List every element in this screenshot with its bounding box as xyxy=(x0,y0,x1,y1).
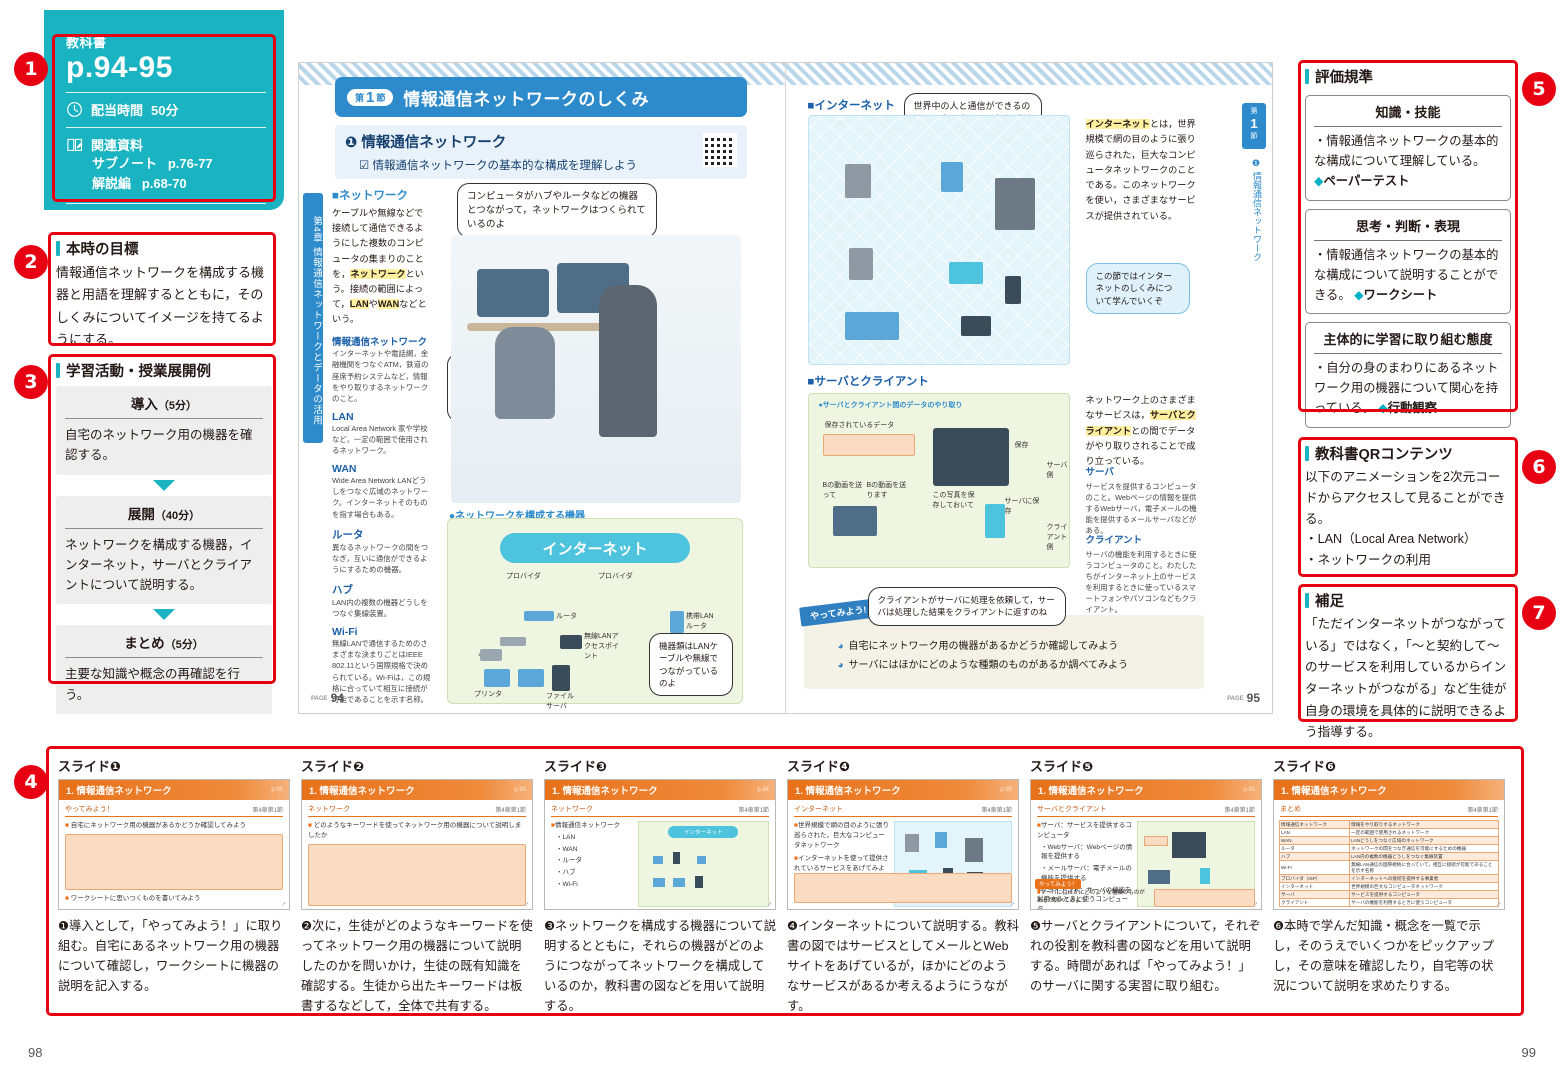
textbook-page-left: 第4章 情報通信ネットワークとデータの活用 第1節 情報通信ネットワークのしくみ… xyxy=(299,63,786,713)
slide-thumbnail-2[interactable]: 1. 情報通信ネットワークp.95 ネットワーク第4章第1節 ■ どのようなキー… xyxy=(301,779,533,910)
flow-arrow-down-icon-2 xyxy=(153,609,175,620)
slide-corner-mark-5: ↗ xyxy=(1253,901,1258,908)
criteria-card-thinking: 思考・判断・表現 ・情報通信ネットワークの基本的な構成について説明することができ… xyxy=(1305,209,1511,315)
criteria-tag-thinking: ◆ワークシート xyxy=(1354,288,1437,302)
network-lead-text: ケーブルや無線などで接続して通信できるようにした複数のコンピュータの集まりのこと… xyxy=(332,206,432,327)
internet-definition-text: インターネットとは，世界規模で網の目のように張り巡らされた，巨大なコンピュータネ… xyxy=(1086,117,1198,224)
related-materials-row: 関連資料 xyxy=(66,135,266,154)
textbook-pages: p.94-95 xyxy=(66,52,266,84)
slide-title-bar-5: 1. 情報通信ネットワークp.95 xyxy=(1031,780,1261,800)
slide-bullet-5-1: ■サーバ：サービスを提供するコンピュータ xyxy=(1037,821,1133,841)
slide-thumbnail-6[interactable]: 1. 情報通信ネットワーク まとめ第4章第1節 情報通信ネットワーク情報をやり取… xyxy=(1273,779,1505,910)
callout-badge-7: 7 xyxy=(1522,596,1556,630)
slide-caption-2: ❷次に，生徒がどのようなキーワードを使ってネットワーク用の機器について説明したの… xyxy=(301,917,533,1017)
slide-bullet-1-1: ■ 自宅にネットワーク用の機器があるかどうか確認してみよう xyxy=(65,821,283,831)
material-commentary: 解説編 p.68-70 xyxy=(92,174,266,194)
criteria-card-attitude: 主体的に学習に取り組む態度 ・自分の身のまわりにあるネットワーク用の機器について… xyxy=(1305,322,1511,428)
server-label-client-side: クライアント側 xyxy=(1047,522,1069,552)
summary-table: 情報通信ネットワーク情報をやり取りするネットワーク LAN一定の範囲で使用される… xyxy=(1279,820,1499,907)
slide-column-4: スライド❹ 1. 情報通信ネットワークp.95 インターネット第4章第1節 ■世… xyxy=(787,756,1019,1006)
table-row: プロバイダ（ISP）インターネットへの接続を提供する事業者 xyxy=(1280,875,1499,883)
slide-bullet-5-2: ・Webサーバ：Webページの情報を提供する xyxy=(1037,843,1133,863)
slide-bullet-2-1: ■ どのようなキーワードを使ってネットワーク用の機器について説明しましたか xyxy=(308,821,526,841)
term-lan: LAN Local Area Network 家や学校など，一定の範囲で使用され… xyxy=(332,411,432,456)
terms-column: ■ネットワーク ケーブルや無線などで接続して通信できるようにした複数のコンピュー… xyxy=(332,187,432,713)
topic-title: ❶ 情報通信ネットワーク xyxy=(345,131,737,152)
slide-corner-mark-4: ↗ xyxy=(1010,901,1015,908)
isp-node-2 xyxy=(941,162,963,192)
datacenter-node xyxy=(995,178,1035,230)
client-phone xyxy=(985,504,1005,538)
callout-badge-3: 3 xyxy=(14,365,48,399)
diamond-icon-2: ◆ xyxy=(1354,288,1363,302)
server-client-diagram: ●サーバとクライアント間のデータのやり取り 保存されているデータ Bの動画を送っ… xyxy=(808,393,1070,568)
net-label-printer: プリンタ xyxy=(474,689,502,699)
lesson-goal-text: 情報通信ネットワークを構成する機器と用語を理解するとともに，そのしくみについてイ… xyxy=(56,262,272,351)
callout-badge-2: 2 xyxy=(14,245,48,279)
internet-section-head: ■インターネット xyxy=(808,97,895,113)
table-row: WANLANどうしをつなぐ広域のネットワーク xyxy=(1280,837,1499,845)
bullet-dot-icon-3: ■ xyxy=(308,822,312,829)
file-server-device xyxy=(552,665,570,691)
term-johotsushin: 情報通信ネットワーク インターネットや電話網，金融機関をつなぐATM，鉄道の座席… xyxy=(332,334,432,404)
net-label-provider-1: プロバイダ xyxy=(506,571,541,581)
pc-node xyxy=(961,316,991,336)
material-subnote-name: サブノート xyxy=(92,156,157,171)
allotted-time-value: 50分 xyxy=(151,100,178,119)
term-wifi: Wi-Fi 無線LANで通信するためのさまざまな決まりごとはIEEE 802.1… xyxy=(332,626,432,705)
plan-step-summary: まとめ（5分） 主要な知識や概念の再確認を行う。 xyxy=(56,625,272,714)
monitor-left xyxy=(477,269,549,317)
term-server: サーバ サービスを提供するコンピュータのこと。Webページの情報を提供するWeb… xyxy=(1086,465,1198,536)
wifi-ap-device xyxy=(560,635,582,649)
term-client: クライアント サーバの機能を利用するときに使うコンピュータのこと。わたしたちがイ… xyxy=(1086,533,1198,615)
qr-code-icon[interactable] xyxy=(703,133,737,167)
term-hub: ハブ LAN内の複数の機器どうしをつなぐ集線装置。 xyxy=(332,582,432,619)
term-router: ルータ 異なるネットワークの間をつなぎ，互いに通信ができるようにするための機器。 xyxy=(332,527,432,575)
web-server-node xyxy=(949,262,983,284)
material-commentary-pages: p.68-70 xyxy=(142,176,187,191)
slide-corner-mark-2: ↗ xyxy=(524,901,529,908)
slide-column-3: スライド❸ 1. 情報通信ネットワークp.94 ネットワーク第4章第1節 ■情報… xyxy=(544,756,776,1006)
slide-label-2: スライド❷ xyxy=(301,756,533,775)
speech-bubble-devices: 機器類はLANケーブルや無線でつながっているのよ xyxy=(649,633,733,696)
plan-step-summary-title: まとめ（5分） xyxy=(65,632,263,658)
section-side-tab: 第1節 xyxy=(1242,103,1266,149)
slide-subtitle-5: サーバとクライアント第4章第1節 xyxy=(1037,804,1255,817)
slide-subtitle-1: やってみよう！第4章第1節 xyxy=(65,804,283,817)
slide-label-3: スライド❸ xyxy=(544,756,776,775)
slide-title-bar-6: 1. 情報通信ネットワーク xyxy=(1274,780,1504,800)
slide-corner-mark-6: ↗ xyxy=(1496,901,1501,908)
server-label-save-photo: この写真を保存しておいて xyxy=(933,490,981,510)
smartphone-node xyxy=(1005,276,1021,304)
net-label-file-server: ファイルサーバ xyxy=(546,691,578,711)
slide-thumbnail-1[interactable]: 1. 情報通信ネットワークp.95 やってみよう！第4章第1節 ■ 自宅にネット… xyxy=(58,779,290,910)
material-commentary-name: 解説編 xyxy=(92,176,131,191)
criteria-card-knowledge-title: 知識・技能 xyxy=(1314,102,1502,127)
table-row: Wi-Fi無線LAN通信の国際規格に合っていて，相互に接続が可能であることを示す… xyxy=(1280,861,1499,875)
pc-2 xyxy=(518,669,544,687)
table-row: 情報通信ネットワーク情報をやり取りするネットワーク xyxy=(1280,821,1499,829)
plan-step-develop-body: ネットワークを構成する機器，インターネット，サーバとクライアントについて説明する… xyxy=(65,529,263,596)
slide-bullet-3-6: ・Wi-Fi xyxy=(551,880,634,890)
slide-title-bar-2: 1. 情報通信ネットワークp.95 xyxy=(302,780,532,800)
table-row: LAN一定の範囲で使用されるネットワーク xyxy=(1280,829,1499,837)
pc-1 xyxy=(484,669,510,687)
lesson-goal-section: 本時の目標 情報通信ネットワークを構成する機器と用語を理解するとともに，そのしく… xyxy=(56,238,272,351)
server-label-stored-data: 保存されているデータ xyxy=(825,420,895,430)
slide-corner-mark-1: ↗ xyxy=(281,901,286,908)
slide-subtitle-2: ネットワーク第4章第1節 xyxy=(308,804,526,817)
bullet-dot-icon: ■ xyxy=(65,822,69,829)
slide-column-2: スライド❷ 1. 情報通信ネットワークp.95 ネットワーク第4章第1節 ■ ど… xyxy=(301,756,533,1006)
router-device xyxy=(524,611,554,621)
slide-column-5: スライド❺ 1. 情報通信ネットワークp.95 サーバとクライアント第4章第1節… xyxy=(1030,756,1262,1006)
plan-step-intro: 導入（5分） 自宅のネットワーク用の機器を確認する。 xyxy=(56,386,272,475)
bullet-icon-2: ◕ xyxy=(838,660,844,671)
try-it-box: やってみよう! ◕自宅にネットワーク用の機器があるかどうか確認してみよう ◕サー… xyxy=(804,615,1204,689)
slide-bullet-3-2: ・LAN xyxy=(551,833,634,843)
callout-badge-6: 6 xyxy=(1522,450,1556,484)
slide-title-bar-3: 1. 情報通信ネットワークp.94 xyxy=(545,780,775,800)
clock-icon xyxy=(66,101,83,118)
student-figure xyxy=(495,327,555,419)
slide-caption-5: ❺サーバとクライアントについて，それぞれの役割を教科書の図などを用いて説明する。… xyxy=(1030,917,1262,997)
server-diagram-title: ●サーバとクライアント間のデータのやり取り xyxy=(819,400,963,410)
callout-badge-4: 4 xyxy=(14,765,48,799)
allotted-time-label: 配当時間 xyxy=(91,100,143,119)
slide-thumbnail-5[interactable]: 1. 情報通信ネットワークp.95 サーバとクライアント第4章第1節 ■サーバ：… xyxy=(1030,779,1262,910)
teacher-figure xyxy=(599,285,657,437)
net-label-wifi-ap: 無線LANアクセスポイント xyxy=(584,631,624,661)
slide-title-bar-4: 1. 情報通信ネットワークp.95 xyxy=(788,780,1018,800)
lesson-plan-section: 学習活動・授業展開例 導入（5分） 自宅のネットワーク用の機器を確認する。 展開… xyxy=(56,360,272,714)
slide-label-5: スライド❺ xyxy=(1030,756,1262,775)
qr-contents-body: 以下のアニメーションを2次元コードからアクセスして見ることができる。 xyxy=(1305,467,1511,529)
slide-subtitle-6: まとめ第4章第1節 xyxy=(1280,804,1498,817)
slide-bullet-3-1: ■情報通信ネットワーク xyxy=(551,821,634,831)
slide-body-3: ■情報通信ネットワーク ・LAN ・WAN ・ルータ ・ハブ ・Wi-Fi イン… xyxy=(545,817,775,910)
slide-body-1: ■ 自宅にネットワーク用の機器があるかどうか確認してみよう ■ ワークシートに思… xyxy=(59,817,289,910)
slide-answer-area-4 xyxy=(794,873,1012,903)
speech-bubble-note: この節ではインターネットのしくみについて学んでいくぞ xyxy=(1086,263,1190,314)
server-label-send-b: Bの動画を送って xyxy=(823,480,863,500)
bullet-dot-icon-2: ■ xyxy=(65,895,69,902)
internet-diagram xyxy=(808,115,1070,365)
slide-3-internet-label: インターネット xyxy=(668,826,738,838)
flow-arrow-down-icon xyxy=(153,480,175,491)
term-wan: WAN Wide Area Network LANどうしをつなぐ広域のネットワー… xyxy=(332,463,432,519)
slides-panel: スライド❶ 1. 情報通信ネットワークp.95 やってみよう！第4章第1節 ■ … xyxy=(46,746,1524,1016)
slide-thumbnail-3[interactable]: 1. 情報通信ネットワークp.94 ネットワーク第4章第1節 ■情報通信ネットワ… xyxy=(544,779,776,910)
printer-device xyxy=(480,649,502,661)
table-row: サーバサービスを提供するコンピュータ xyxy=(1280,891,1499,899)
topic-objective: ☑ 情報通信ネットワークの基本的な構成を理解しよう xyxy=(359,157,737,173)
table-row: インターネット世界規模の巨大なコンピュータネットワーク xyxy=(1280,883,1499,891)
net-label-router: ルータ xyxy=(556,611,577,621)
slide-bullet-3-5: ・ハブ xyxy=(551,868,634,878)
slide-footer-bullet-5: ■サーバにはほかにどのような種類のものがあるか調べてみよう xyxy=(1037,889,1147,906)
slide-corner-mark-3: ↗ xyxy=(767,901,772,908)
section-side-vertical-label: ❶ 情報通信ネットワーク xyxy=(1249,159,1264,289)
supplement-body: 「ただインターネットがつながっている」ではなく，「〜と契約して〜のサービスを利用… xyxy=(1305,614,1511,744)
slide-column-1: スライド❶ 1. 情報通信ネットワークp.95 やってみよう！第4章第1節 ■ … xyxy=(58,756,290,1006)
server-label-saved-to-server: サーバに保存 xyxy=(1005,496,1045,516)
server-label-server-side: サーバ側 xyxy=(1047,460,1069,480)
slide-bullet-3-4: ・ルータ xyxy=(551,856,634,866)
chapter-tab: 第4章 情報通信ネットワークとデータの活用 xyxy=(303,193,323,443)
slide-5-try-flag: やってみよう！ xyxy=(1035,879,1081,889)
slide-subtitle-3: ネットワーク第4章第1節 xyxy=(551,804,769,817)
speech-bubble-client-server: クライアントがサーバに処理を依頼して，サーバは処理した結果をクライアントに返すの… xyxy=(868,587,1066,626)
plan-step-develop: 展開（40分） ネットワークを構成する機器，インターネット，サーバとクライアント… xyxy=(56,496,272,605)
client-laptop xyxy=(833,506,877,536)
slide-body-2: ■ どのようなキーワードを使ってネットワーク用の機器について説明しましたか xyxy=(302,817,532,910)
try-it-flag: やってみよう! xyxy=(799,598,877,626)
criteria-card-thinking-body: ・情報通信ネットワークの基本的な構成について説明することができる。 ◆ワークシー… xyxy=(1314,241,1502,306)
speech-bubble-teacher: コンピュータがハブやルータなどの機器とつながって，ネットワークはつくられているの… xyxy=(457,183,657,238)
evaluation-criteria-section: 評価規準 知識・技能 ・情報通信ネットワークの基本的な構成について理解している。… xyxy=(1305,66,1511,428)
section-banner-title: 情報通信ネットワークのしくみ xyxy=(403,85,649,110)
page-top-hatch-right xyxy=(786,63,1273,85)
supplement-section: 補足 「ただインターネットがつながっている」ではなく，「〜と契約して〜のサービス… xyxy=(1305,590,1511,744)
slide-footer-bullet-1: ■ ワークシートに思いつくものを書いてみよう xyxy=(65,894,283,904)
topic-banner: ❶ 情報通信ネットワーク ☑ 情報通信ネットワークの基本的な構成を理解しよう xyxy=(335,125,747,179)
material-subnote: サブノート p.76-77 xyxy=(92,154,266,174)
try-item-1: ◕自宅にネットワーク用の機器があるかどうか確認してみよう xyxy=(838,637,1204,652)
net-label-provider-2: プロバイダ xyxy=(598,571,633,581)
criteria-card-attitude-body: ・自分の身のまわりにあるネットワーク用の機器について関心を持っている。 ◆行動観… xyxy=(1314,354,1502,419)
plan-step-develop-title: 展開（40分） xyxy=(65,503,263,529)
server-section-head: ■サーバとクライアント xyxy=(808,373,929,389)
bullet-icon: ◕ xyxy=(838,641,844,652)
book-pencil-icon xyxy=(66,136,83,153)
slide-bullet-4-1: ■世界規模で網の目のように張り巡らされた，巨大なコンピュータネットワーク xyxy=(794,821,890,850)
terms-section-head: ■ネットワーク xyxy=(332,187,432,203)
qr-contents-heading: 教科書QRコンテンツ xyxy=(1305,443,1511,464)
material-subnote-pages: p.76-77 xyxy=(168,156,213,171)
slide-thumbnail-4[interactable]: 1. 情報通信ネットワークp.95 インターネット第4章第1節 ■世界規模で網の… xyxy=(787,779,1019,910)
criteria-card-knowledge: 知識・技能 ・情報通信ネットワークの基本的な構成について理解している。 ◆ペーパ… xyxy=(1305,95,1511,201)
slide-label-1: スライド❶ xyxy=(58,756,290,775)
home-network-node xyxy=(845,312,899,340)
supplement-heading: 補足 xyxy=(1305,590,1511,611)
mobile-router-device xyxy=(670,611,684,633)
criteria-card-thinking-title: 思考・判断・表現 xyxy=(1314,216,1502,241)
section-number-pill: 第1節 xyxy=(347,89,393,106)
slide-subtitle-4: インターネット第4章第1節 xyxy=(794,804,1012,817)
table-row: クライアントサーバの機能を利用するときに使うコンピュータ xyxy=(1280,899,1499,907)
slide-caption-6: ❻本時で学んだ知識・概念を一覧で示し，そのうえでいくつかをピックアップし，その意… xyxy=(1273,917,1505,997)
criteria-tag-attitude: ◆行動観察 xyxy=(1378,401,1437,415)
plan-step-intro-body: 自宅のネットワーク用の機器を確認する。 xyxy=(65,419,263,466)
evaluation-criteria-heading: 評価規準 xyxy=(1305,66,1511,87)
textbook-spread: 第4章 情報通信ネットワークとデータの活用 第1節 情報通信ネットワークのしくみ… xyxy=(298,62,1273,714)
qr-contents-section: 教科書QRコンテンツ 以下のアニメーションを2次元コードからアクセスして見ること… xyxy=(1305,443,1511,571)
related-materials-label: 関連資料 xyxy=(91,135,143,154)
slide-caption-4: ❹インターネットについて説明する。教科書の図ではサービスとしてメールとWebサイ… xyxy=(787,917,1019,1017)
slide-answer-area-1 xyxy=(65,834,283,890)
slide-caption-1: ❶導入として，「やってみよう！」に取り組む。自宅にあるネットワーク用の機器につい… xyxy=(58,917,290,997)
server-label-save: 保存 xyxy=(1015,440,1029,450)
callout-badge-1: 1 xyxy=(14,52,48,86)
server-client-lead-text: ネットワーク上のさまざまなサービスは，サーバとクライアントとの間でデータがやり取… xyxy=(1086,393,1198,469)
section-banner: 第1節 情報通信ネットワークのしくみ xyxy=(335,77,747,117)
slide-caption-3: ❸ネットワークを構成する機器について説明するとともに，それらの機器がどのようにつ… xyxy=(544,917,776,1017)
criteria-tag-knowledge: ◆ペーパーテスト xyxy=(1314,174,1409,188)
slide-answer-area-2 xyxy=(308,844,526,906)
slide-body-6: 情報通信ネットワーク情報をやり取りするネットワーク LAN一定の範囲で使用される… xyxy=(1274,817,1504,910)
hub-device xyxy=(500,637,526,646)
slide-label-4: スライド❹ xyxy=(787,756,1019,775)
lesson-goal-heading: 本時の目標 xyxy=(56,238,272,259)
page-footer-left: PAGE94 xyxy=(311,691,344,705)
server-rack xyxy=(933,428,1009,486)
lesson-plan-heading: 学習活動・授業展開例 xyxy=(56,360,272,381)
textbook-page-right: ■インターネット 世界中の人と通信ができるのはインターネットのおかげだね 第1節… xyxy=(786,63,1273,713)
table-row: ルータネットワークの間をつなぎ通信を可能にするための機器 xyxy=(1280,845,1499,853)
allotted-time-row: 配当時間 50分 xyxy=(66,100,266,119)
diamond-icon-3: ◆ xyxy=(1378,401,1387,415)
net-label-mobile-router: 携帯LANルータ xyxy=(686,611,720,631)
term-provider: プロバイダ（ISP） Internet Service Provider インタ… xyxy=(332,712,432,713)
isp-node-3 xyxy=(849,248,873,280)
internet-cloud-label: インターネット xyxy=(500,533,690,563)
slide-column-6: スライド❻ 1. 情報通信ネットワーク まとめ第4章第1節 情報通信ネットワーク… xyxy=(1273,756,1505,1006)
page-number-right: 99 xyxy=(1522,1045,1536,1060)
criteria-card-attitude-title: 主体的に学習に取り組む態度 xyxy=(1314,329,1502,354)
isp-node-1 xyxy=(845,164,871,198)
callout-badge-5: 5 xyxy=(1522,72,1556,106)
slide-label-6: スライド❻ xyxy=(1273,756,1505,775)
page-number-left: 98 xyxy=(28,1045,42,1060)
criteria-card-knowledge-body: ・情報通信ネットワークの基本的な構成について理解している。 ◆ペーパーテスト xyxy=(1314,127,1502,192)
plan-step-summary-body: 主要な知識や概念の再確認を行う。 xyxy=(65,658,263,705)
stored-data-box xyxy=(823,434,915,456)
qr-item-lan: ・LAN（Local Area Network） xyxy=(1305,529,1511,550)
server-label-sending-b: Bの動画を送ります xyxy=(867,480,907,500)
slide-title-bar-1: 1. 情報通信ネットワークp.95 xyxy=(59,780,289,800)
plan-step-intro-title: 導入（5分） xyxy=(65,393,263,419)
slide-answer-area-5 xyxy=(1154,889,1255,907)
qr-item-network-use: ・ネットワークの利用 xyxy=(1305,550,1511,571)
page-footer-right: PAGE95 xyxy=(1227,691,1260,705)
textbook-reference-card: 教科書 p.94-95 配当時間 50分 関連資料 サブノート p.76-77 … xyxy=(44,10,284,210)
slide-bullet-3-3: ・WAN xyxy=(551,845,634,855)
textbook-label: 教科書 xyxy=(66,32,266,51)
try-item-2: ◕サーバにはほかにどのような種類のものがあるか調べてみよう xyxy=(838,656,1204,671)
table-row: ハブLAN内の複数の機器どうしをつなぐ集線装置 xyxy=(1280,853,1499,861)
